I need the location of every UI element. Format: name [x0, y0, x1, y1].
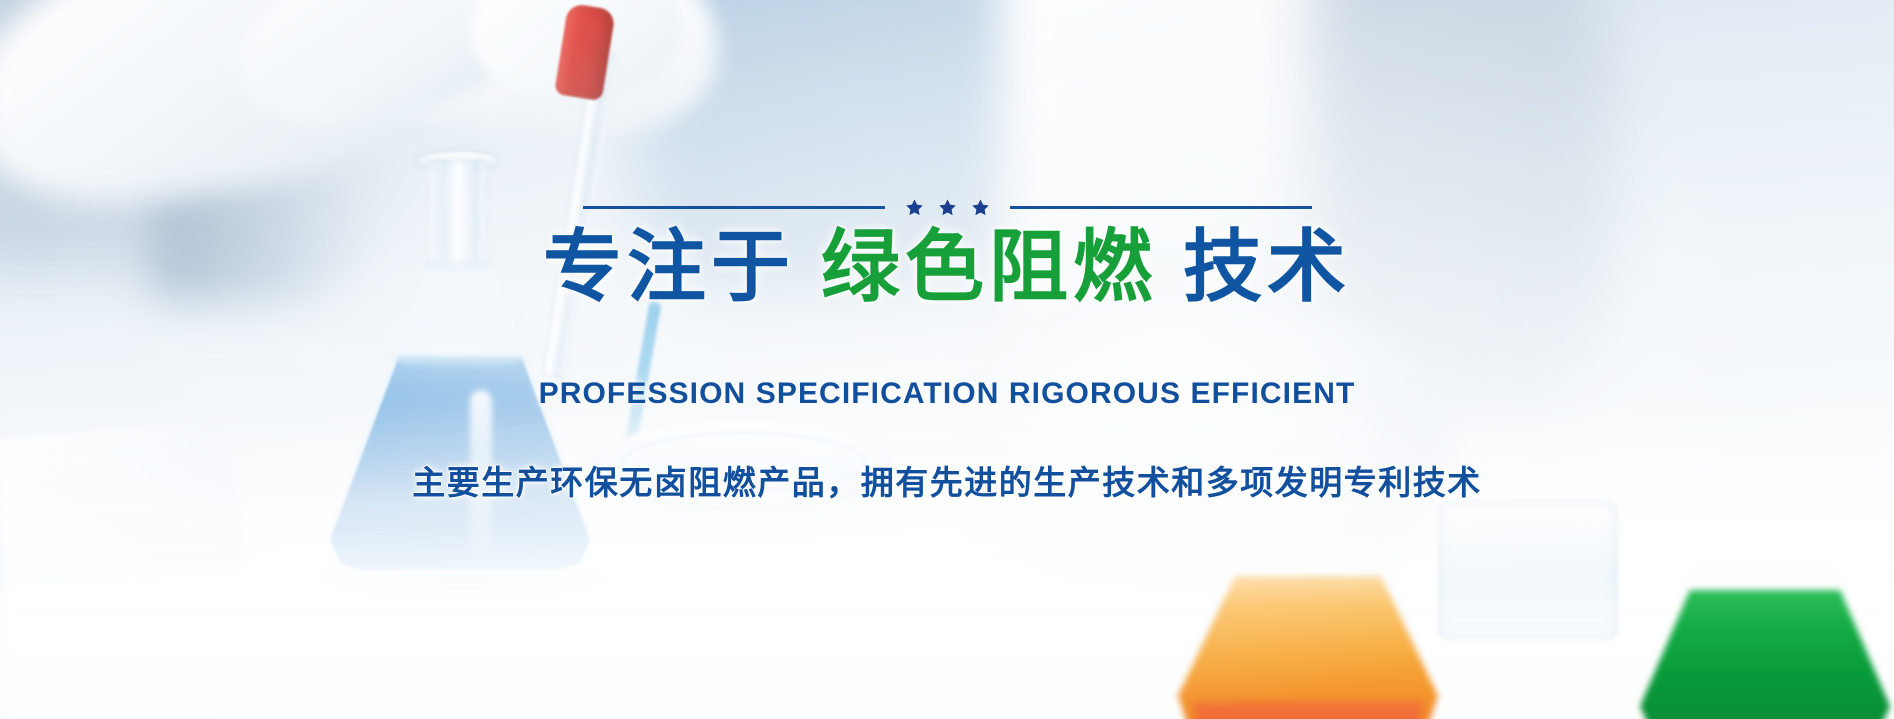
hero-banner: 专注于绿色阻燃技术 PROFESSION SPECIFICATION RIGOR… — [0, 0, 1894, 719]
headline-part-2: 绿色阻燃 — [821, 221, 1157, 313]
headline-part-3: 技术 — [1183, 221, 1351, 313]
banner-subtitle-english: PROFESSION SPECIFICATION RIGOROUS EFFICI… — [539, 377, 1356, 411]
divider-line-right — [1010, 206, 1312, 209]
star-icon — [905, 198, 924, 217]
star-group — [885, 198, 1010, 217]
star-icon — [971, 198, 990, 217]
divider-line-left — [583, 206, 885, 209]
headline-part-1: 专注于 — [543, 221, 795, 313]
star-icon — [938, 198, 957, 217]
divider-with-stars — [552, 196, 1342, 218]
banner-headline: 专注于绿色阻燃技术 — [543, 226, 1351, 310]
banner-content: 专注于绿色阻燃技术 PROFESSION SPECIFICATION RIGOR… — [0, 0, 1894, 719]
banner-subtitle-chinese: 主要生产环保无卤阻燃产品，拥有先进的生产技术和多项发明专利技术 — [412, 456, 1482, 504]
